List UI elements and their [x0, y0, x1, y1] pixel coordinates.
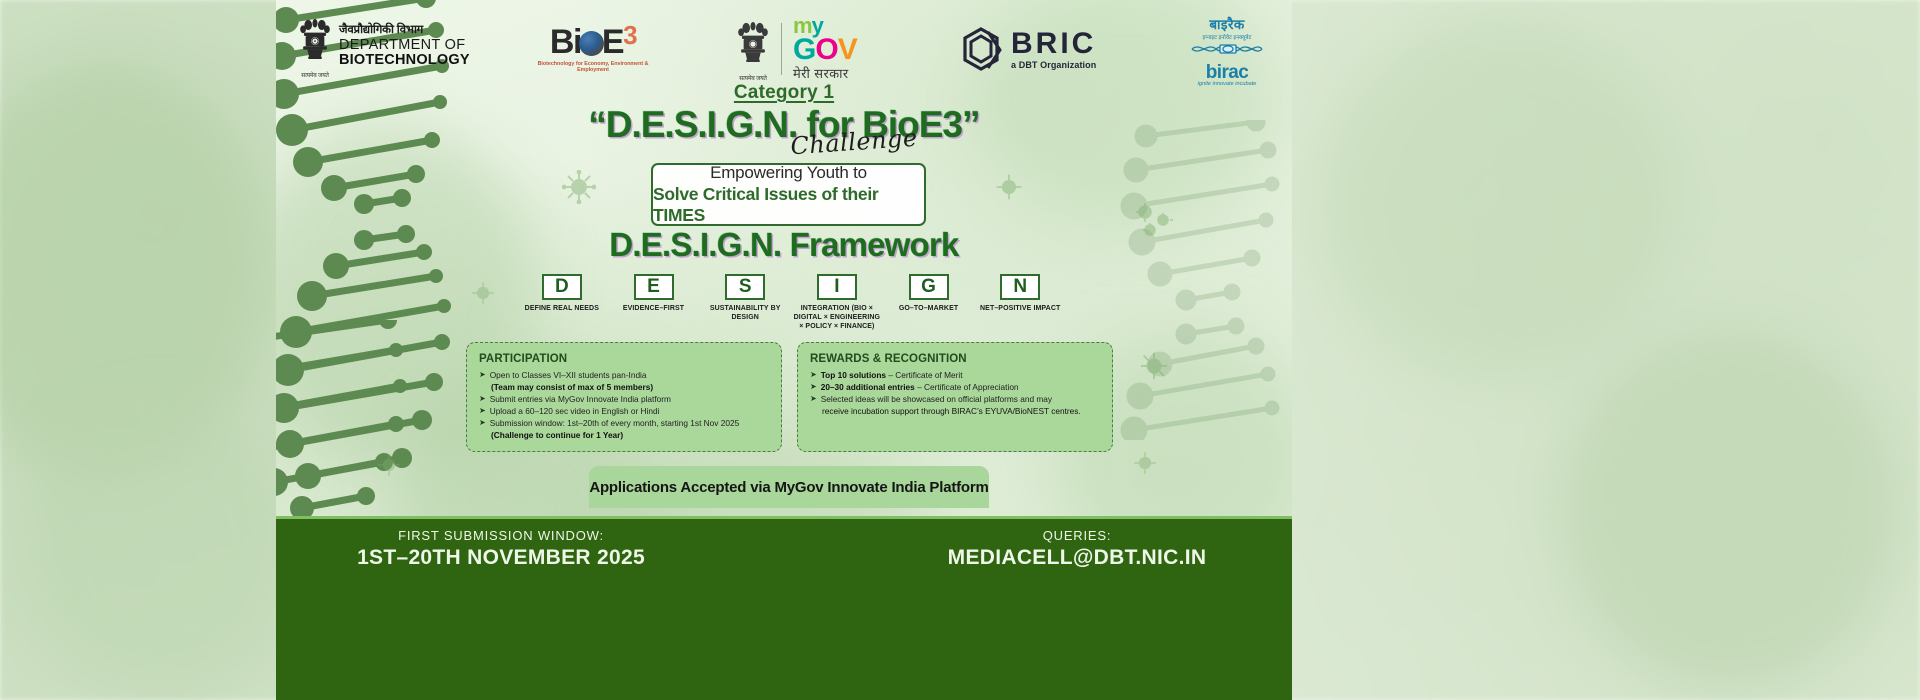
- footer-left-label: FIRST SUBMISSION WINDOW:: [326, 528, 676, 543]
- participation-item-text: Open to Classes VI–XII students pan-Indi…: [490, 369, 647, 381]
- rewards-item-rest: Selected ideas will be showcased on offi…: [821, 393, 1052, 405]
- backdrop-blot: [1320, 20, 1680, 380]
- rewards-card: REWARDS & RECOGNITION ➤ Top 10 solutions…: [797, 342, 1113, 452]
- footer-right-value[interactable]: MEDIACELL@DBT.NIC.IN: [902, 546, 1252, 570]
- letter-box-g: G: [909, 274, 949, 300]
- bullet-arrow-icon: ➤: [479, 405, 486, 417]
- bric-hexagon-icon: [958, 26, 1004, 72]
- logo-birac: बाइरैक इग्नाइट इनोवेट इनक्यूबेट birac ig…: [1188, 18, 1266, 87]
- bullet-arrow-icon: ➤: [810, 393, 817, 405]
- ashoka-emblem-icon: सत्यमेव जयते: [298, 14, 332, 79]
- participation-item: ➤ Submission window: 1st–20th of every m…: [479, 417, 769, 429]
- rewards-item-sub: receive incubation support through BIRAC…: [822, 405, 1100, 417]
- participation-item-sub: (Team may consist of max of 5 members): [491, 381, 769, 393]
- footer-top-rule: [276, 516, 1292, 519]
- footer-submission-window: FIRST SUBMISSION WINDOW: 1ST–20TH NOVEMB…: [326, 528, 676, 570]
- bioe3-tagline: Biotechnology for Economy, Environment &…: [528, 61, 658, 73]
- emblem-motto-mygov: सत्यमेव जयते: [736, 74, 770, 82]
- dbt-hindi-label: जैवप्रौद्योगिकी विभाग: [339, 25, 470, 37]
- bioe3-wordmark: BiE3: [528, 22, 658, 59]
- footer-right-label: QUERIES:: [902, 528, 1252, 543]
- dbt-line2: BIOTECHNOLOGY: [339, 53, 470, 68]
- dbt-line1: DEPARTMENT OF: [339, 38, 470, 53]
- bric-wordmark: BRIC: [1011, 29, 1096, 59]
- backdrop-blot: [20, 400, 300, 700]
- logo-row: सत्यमेव जयते जैवप्रौद्योगिकी विभाग DEPAR…: [276, 8, 1292, 84]
- rewards-item-bold: 20–30 additional entries: [821, 382, 915, 392]
- logo-divider: [781, 23, 782, 75]
- bullet-arrow-icon: ➤: [810, 381, 817, 393]
- virus-motif: [1132, 450, 1158, 476]
- backdrop-blot: [1560, 330, 1900, 690]
- framework-letter-e: E EVIDENCE–FIRST: [608, 274, 700, 314]
- logo-mygov: सत्यमेव जयते my GOV मेरी सरकार: [736, 16, 857, 82]
- emblem-motto: सत्यमेव जयते: [298, 71, 332, 79]
- rewards-item-bold: Top 10 solutions: [821, 370, 886, 380]
- bullet-arrow-icon: ➤: [810, 369, 817, 381]
- participation-item-text: Upload a 60–120 sec video in English or …: [490, 405, 660, 417]
- footer-bar: FIRST SUBMISSION WINDOW: 1ST–20TH NOVEMB…: [276, 516, 1292, 700]
- virus-motif: [994, 172, 1024, 202]
- rewards-item: ➤ Selected ideas will be showcased on of…: [810, 393, 1100, 405]
- framework-letter-d: D DEFINE REAL NEEDS: [516, 274, 608, 314]
- rewards-item-rest: – Certificate of Merit: [886, 370, 963, 380]
- letter-label-s: SUSTAINABILITY BY DESIGN: [699, 305, 791, 323]
- mygov-hindi-text: मेरी सरकार: [793, 64, 857, 82]
- tagline-line1: Empowering Youth to: [710, 163, 867, 183]
- tagline-box: Empowering Youth to Solve Critical Issue…: [651, 163, 926, 226]
- birac-hindi-sub: इग्नाइट इनोवेट इनक्यूबेट: [1188, 33, 1266, 41]
- bioe3-superscript: 3: [623, 20, 636, 50]
- letter-box-s: S: [725, 274, 765, 300]
- letter-label-i: INTEGRATION (BIO × DIGITAL × ENGINEERING…: [791, 305, 883, 331]
- letter-label-d: DEFINE REAL NEEDS: [516, 305, 608, 314]
- dna-helix-decoration-right: [1116, 120, 1292, 440]
- apply-banner: Applications Accepted via MyGov Innovate…: [589, 466, 989, 508]
- rewards-item: ➤ Top 10 solutions – Certificate of Meri…: [810, 369, 1100, 381]
- framework-heading: D.E.S.I.G.N. Framework: [276, 226, 1292, 264]
- participation-item: ➤ Submit entries via MyGov Innovate Indi…: [479, 393, 769, 405]
- rewards-title: REWARDS & RECOGNITION: [810, 353, 1100, 365]
- birac-wordmark: birac: [1188, 63, 1266, 82]
- participation-item: ➤ Upload a 60–120 sec video in English o…: [479, 405, 769, 417]
- birac-dna-icon: [1190, 41, 1264, 57]
- tagline-line2: Solve Critical Issues of their TIMES: [653, 184, 924, 226]
- virus-motif: [376, 452, 402, 478]
- logo-bioe3: BiE3 Biotechnology for Economy, Environm…: [528, 22, 658, 73]
- letter-label-n: NET–POSITIVE IMPACT: [974, 305, 1066, 314]
- participation-title: PARTICIPATION: [479, 353, 769, 365]
- letter-label-e: EVIDENCE–FIRST: [608, 305, 700, 314]
- rewards-item-rest: – Certificate of Appreciation: [915, 382, 1019, 392]
- letter-box-n: N: [1000, 274, 1040, 300]
- virus-motif: [1138, 350, 1170, 382]
- bullet-arrow-icon: ➤: [479, 393, 486, 405]
- letter-label-g: GO–TO–MARKET: [883, 305, 975, 314]
- framework-letter-s: S SUSTAINABILITY BY DESIGN: [699, 274, 791, 323]
- bullet-arrow-icon: ➤: [479, 369, 486, 381]
- bullet-arrow-icon: ➤: [479, 417, 486, 429]
- letter-box-i: I: [817, 274, 857, 300]
- footer-queries: QUERIES: MEDIACELL@DBT.NIC.IN: [902, 528, 1252, 570]
- footer-left-value: 1ST–20TH NOVEMBER 2025: [326, 546, 676, 570]
- virus-motif: [470, 280, 496, 306]
- virus-motif: [562, 170, 596, 204]
- framework-letter-g: G GO–TO–MARKET: [883, 274, 975, 314]
- category-label: Category 1: [276, 82, 1292, 104]
- letter-box-e: E: [634, 274, 674, 300]
- participation-item-text: Submission window: 1st–20th of every mon…: [490, 417, 740, 429]
- birac-hindi: बाइरैक: [1188, 18, 1266, 32]
- rewards-item: ➤ 20–30 additional entries – Certificate…: [810, 381, 1100, 393]
- logo-bric: BRIC a DBT Organization: [958, 26, 1096, 72]
- apply-banner-text: Applications Accepted via MyGov Innovate…: [589, 479, 988, 496]
- framework-letters-row: D DEFINE REAL NEEDS E EVIDENCE–FIRST S S…: [516, 274, 1066, 331]
- globe-icon: [579, 31, 604, 56]
- participation-item: ➤ Open to Classes VI–XII students pan-In…: [479, 369, 769, 381]
- bric-subtitle: a DBT Organization: [1011, 60, 1096, 70]
- mygov-gov-text: GOV: [793, 36, 857, 63]
- framework-letter-i: I INTEGRATION (BIO × DIGITAL × ENGINEERI…: [791, 274, 883, 331]
- letter-box-d: D: [542, 274, 582, 300]
- participation-item-text: Submit entries via MyGov Innovate India …: [490, 393, 671, 405]
- participation-card: PARTICIPATION ➤ Open to Classes VI–XII s…: [466, 342, 782, 452]
- framework-letter-n: N NET–POSITIVE IMPACT: [974, 274, 1066, 314]
- logo-department-of-biotechnology: सत्यमेव जयते जैवप्रौद्योगिकी विभाग DEPAR…: [298, 14, 470, 79]
- participation-item-sub: (Challenge to continue for 1 Year): [491, 429, 769, 441]
- ashoka-emblem-icon-mygov: सत्यमेव जयते: [736, 17, 770, 82]
